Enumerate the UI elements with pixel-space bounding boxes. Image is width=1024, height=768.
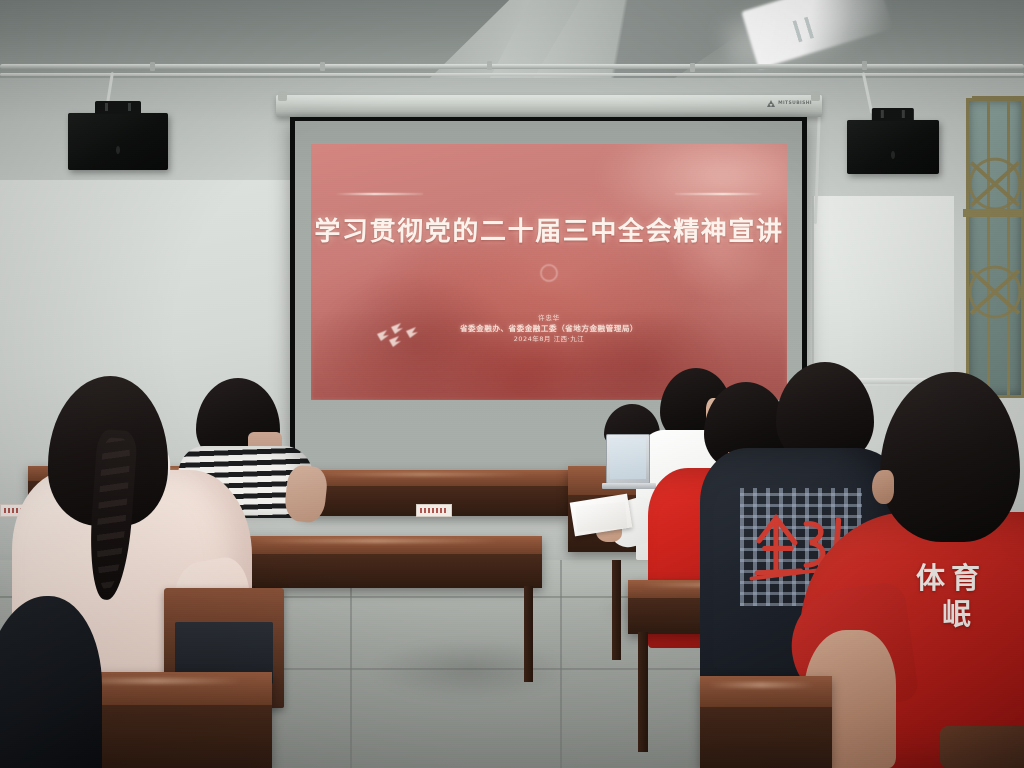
desk-leg	[524, 586, 533, 682]
desk-leg	[638, 632, 648, 752]
desk-sheen	[254, 539, 499, 543]
desk-sheen	[708, 682, 814, 688]
conduit-clip	[862, 61, 867, 70]
conduit-pipe-lower	[0, 73, 1024, 76]
laptop-screen	[610, 438, 646, 479]
slide-presenter: 许忠华	[311, 313, 788, 323]
shirt-print-line-1: 体育	[916, 560, 1024, 596]
ear	[872, 470, 894, 504]
slide-date-location: 2024年8月 江西·九江	[311, 335, 788, 345]
desk-front-right	[700, 676, 832, 768]
decorative-ring-icon	[540, 265, 557, 282]
chair-front-right	[940, 726, 1024, 768]
desk-front	[700, 707, 832, 768]
floor-seam	[350, 560, 352, 768]
window-grille-flower-icon	[969, 249, 1021, 335]
brand-text: MITSUBISHI	[778, 101, 812, 106]
projection-screen-housing[interactable]: MITSUBISHI	[276, 95, 822, 117]
laptop-lid	[606, 434, 650, 484]
shirt-print-text: 体育 岷	[916, 560, 1024, 633]
housing-endcap-left	[278, 91, 287, 101]
desk-leg	[612, 560, 621, 660]
slide-title: 学习贯彻党的二十届三中全会精神宣讲	[311, 211, 788, 248]
laptop-base	[602, 483, 656, 489]
conduit-clip	[487, 61, 492, 70]
wall-speaker-right	[847, 120, 939, 174]
shirt-print-line-2: 岷	[942, 596, 1024, 632]
desk-sheen	[316, 473, 530, 476]
housing-endcap-right	[811, 91, 820, 101]
mitsubishi-logo-icon	[767, 100, 775, 107]
seat-label-tag	[416, 504, 452, 517]
mitsubishi-brand: MITSUBISHI	[767, 100, 812, 107]
whiteboard	[812, 196, 954, 386]
speaker-bracket	[872, 108, 914, 121]
presentation-slide: 学习贯彻党的二十届三中全会精神宣讲 许忠华 省委金融办、省委金融工委（省地方金融…	[311, 144, 788, 400]
desk-mid-left	[236, 536, 542, 588]
window-with-grille	[966, 98, 1024, 398]
speaker-bracket	[95, 101, 141, 114]
floor-smudge	[370, 640, 570, 700]
conduit-clip	[690, 63, 695, 72]
conduit-clip	[150, 62, 155, 71]
slide-decorative-rules	[311, 191, 788, 197]
window-sill	[963, 209, 1023, 217]
desk-front	[236, 554, 542, 588]
wall-speaker-left	[68, 113, 168, 170]
speaker-driver-icon	[891, 151, 895, 159]
slide-organization: 省委金融办、省委金融工委（省地方金融管理局）	[311, 323, 788, 335]
person-dark-top-foreground-left	[0, 596, 102, 768]
speaker-driver-icon	[116, 146, 120, 154]
classroom-photo: MITSUBISHI 学习贯彻党的二十届三中全会精神宣讲	[0, 0, 1024, 768]
laptop[interactable]	[606, 434, 652, 492]
conduit-clip	[320, 62, 325, 71]
slide-subtitle-block: 许忠华 省委金融办、省委金融工委（省地方金融管理局） 2024年8月 江西·九江	[311, 313, 788, 345]
